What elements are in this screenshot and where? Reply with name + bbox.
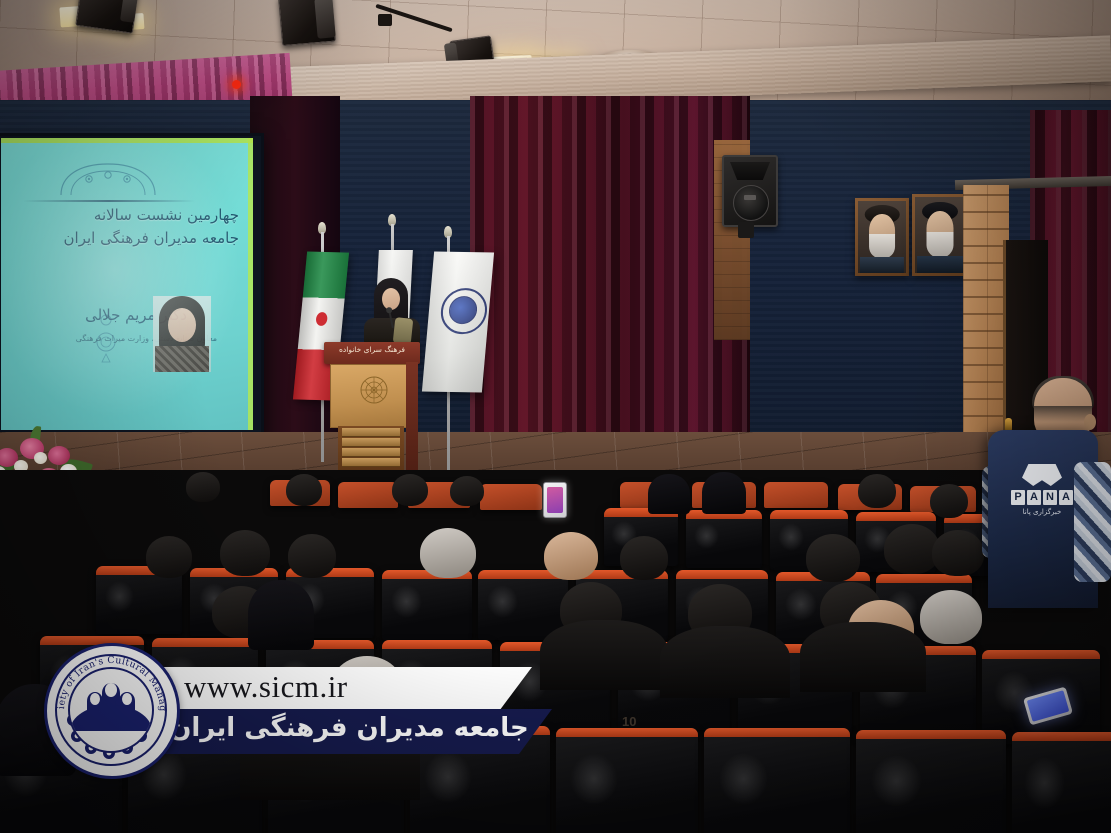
- audience-head: [702, 472, 746, 514]
- podium-venue-label: فرهنگ سرای خانواده: [324, 345, 420, 354]
- flower-white: [34, 452, 47, 464]
- smartphone-icon[interactable]: [543, 482, 567, 518]
- audience-head: [420, 528, 476, 578]
- seat-back-row[interactable]: [480, 484, 542, 510]
- seal-persian-text: جامعه مدیران فرهنگی ایران: [70, 738, 152, 746]
- pana-letter: A: [1027, 490, 1041, 505]
- speaker-bracket: [738, 222, 754, 238]
- conference-hall-photo: چهارمین نشست سالانه جامعه مدیران فرهنگی …: [0, 0, 1111, 833]
- sicm-seal-logo: Society of Iran's Cultural Managers: [44, 643, 180, 779]
- pana-volunteer: P A N A خبرگزاری پانا: [988, 378, 1111, 608]
- seat[interactable]: [1012, 732, 1111, 833]
- audience-head: [248, 580, 314, 650]
- podium-drawer: [342, 428, 400, 437]
- loudspeaker-icon: [722, 155, 778, 227]
- flower-lily: [48, 446, 70, 465]
- seat-back-row[interactable]: [338, 482, 398, 508]
- seat[interactable]: [686, 510, 762, 568]
- volunteer-plaid-sleeve: [1074, 462, 1111, 582]
- audience-head: [620, 536, 668, 580]
- wall-portrait-right: [912, 194, 968, 276]
- audience-head: [858, 474, 896, 508]
- podium-drawer: [342, 458, 400, 467]
- wall-portrait-left: [855, 198, 909, 276]
- volunteer-ear: [1084, 414, 1096, 430]
- watermark-url[interactable]: www.sicm.ir: [184, 669, 348, 705]
- podium-base: [338, 426, 404, 470]
- podium-rosette-icon: [359, 375, 389, 405]
- podium-drawer: [342, 438, 400, 447]
- presenter-scarf: [393, 317, 414, 345]
- audience-head: [544, 532, 598, 580]
- watermark: www.sicm.ir جامعه مدیران فرهنگی ایران So…: [44, 643, 544, 773]
- audience-head: [450, 476, 484, 506]
- presenter-at-podium: [364, 278, 420, 346]
- audience-head: [286, 474, 322, 506]
- audience-shoulders: [660, 626, 790, 698]
- pana-letter: A: [1059, 490, 1073, 505]
- audience-head: [186, 472, 220, 502]
- speaker-badge: [744, 195, 756, 200]
- audience-head: [648, 474, 690, 514]
- organization-flag-front: [422, 251, 494, 392]
- speaker-woofer: [733, 185, 769, 221]
- podium-side-panel: [406, 362, 418, 470]
- seat-back-row[interactable]: [764, 482, 828, 508]
- pana-letter: P: [1011, 490, 1025, 505]
- portrait-beard: [927, 232, 954, 258]
- pana-logo: P A N A خبرگزاری پانا: [1006, 464, 1078, 524]
- audience-head: [288, 534, 336, 578]
- audience-shoulders: [800, 622, 926, 692]
- audience-head: [920, 590, 982, 644]
- watermark-organization: جامعه مدیران فرهنگی ایران: [164, 713, 534, 743]
- seat[interactable]: [704, 728, 850, 833]
- seat[interactable]: [556, 728, 698, 833]
- audience-head: [806, 534, 860, 582]
- audience-head: [220, 530, 270, 576]
- projection-screen: چهارمین نشست سالانه جامعه مدیران فرهنگی …: [0, 133, 264, 441]
- audience-shoulders: [540, 620, 668, 690]
- speaker-horn: [730, 162, 770, 180]
- podium-drawer: [342, 448, 400, 457]
- screen-glare: [1, 138, 253, 430]
- portrait-beard: [869, 234, 895, 258]
- audience-head: [930, 484, 968, 518]
- seat-number-label: 10: [622, 714, 636, 729]
- seat[interactable]: [382, 570, 472, 640]
- audience-head: [392, 474, 428, 506]
- podium-front-panel: [330, 364, 416, 428]
- indicator-light: [232, 80, 241, 89]
- podium: فرهنگ سرای خانواده: [324, 342, 420, 470]
- pana-letter: N: [1043, 490, 1057, 505]
- podium-top: فرهنگ سرای خانواده: [324, 342, 420, 364]
- audience-head: [932, 530, 984, 576]
- seal-inner-disc: جامعه مدیران فرهنگی ایران: [68, 667, 154, 753]
- seat[interactable]: [856, 730, 1006, 833]
- spotlight-ceiling-mount: [378, 14, 392, 26]
- pana-letter-boxes: P A N A: [1006, 490, 1078, 505]
- podium-subtext: [353, 409, 395, 415]
- pana-subtext: خبرگزاری پانا: [1006, 508, 1078, 516]
- portrait-robe: [917, 256, 963, 273]
- portrait-robe: [860, 257, 904, 273]
- pana-ribbon-icon: [1022, 464, 1062, 486]
- stage-backdrop-curtain: [470, 96, 750, 476]
- audience-head: [146, 536, 192, 578]
